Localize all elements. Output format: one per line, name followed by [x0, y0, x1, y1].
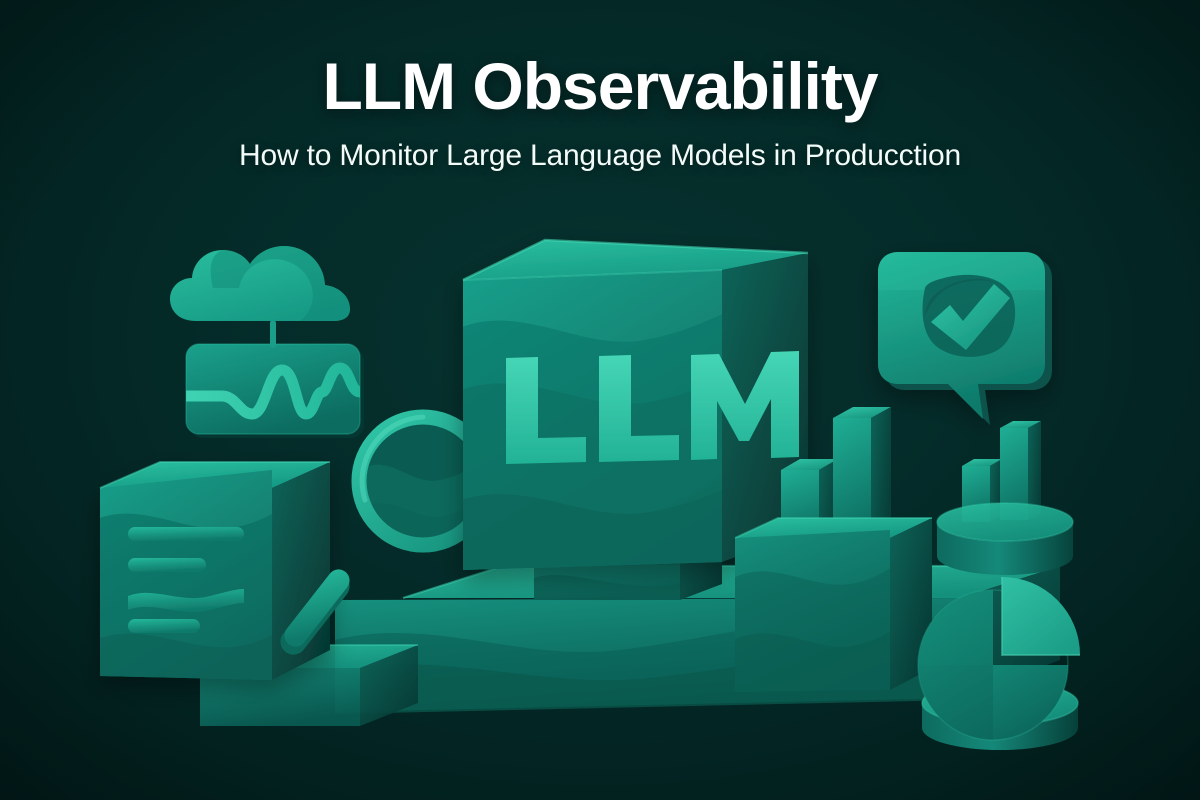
title-block: LLM Observability How to Monitor Large L… [0, 52, 1200, 173]
bar-chart-cylinder [937, 421, 1073, 575]
metrics-panel [186, 320, 380, 438]
cloud-icon [170, 246, 350, 321]
pie-slice-highlight [1002, 577, 1080, 655]
page-title: LLM Observability [0, 52, 1200, 121]
bar-2 [833, 407, 891, 536]
chat-bubble-check [878, 252, 1052, 425]
page-subtitle: How to Monitor Large Language Models in … [0, 139, 1200, 173]
hero-banner: LLM Observability How to Monitor Large L… [0, 0, 1200, 800]
logs-cube [95, 460, 330, 700]
